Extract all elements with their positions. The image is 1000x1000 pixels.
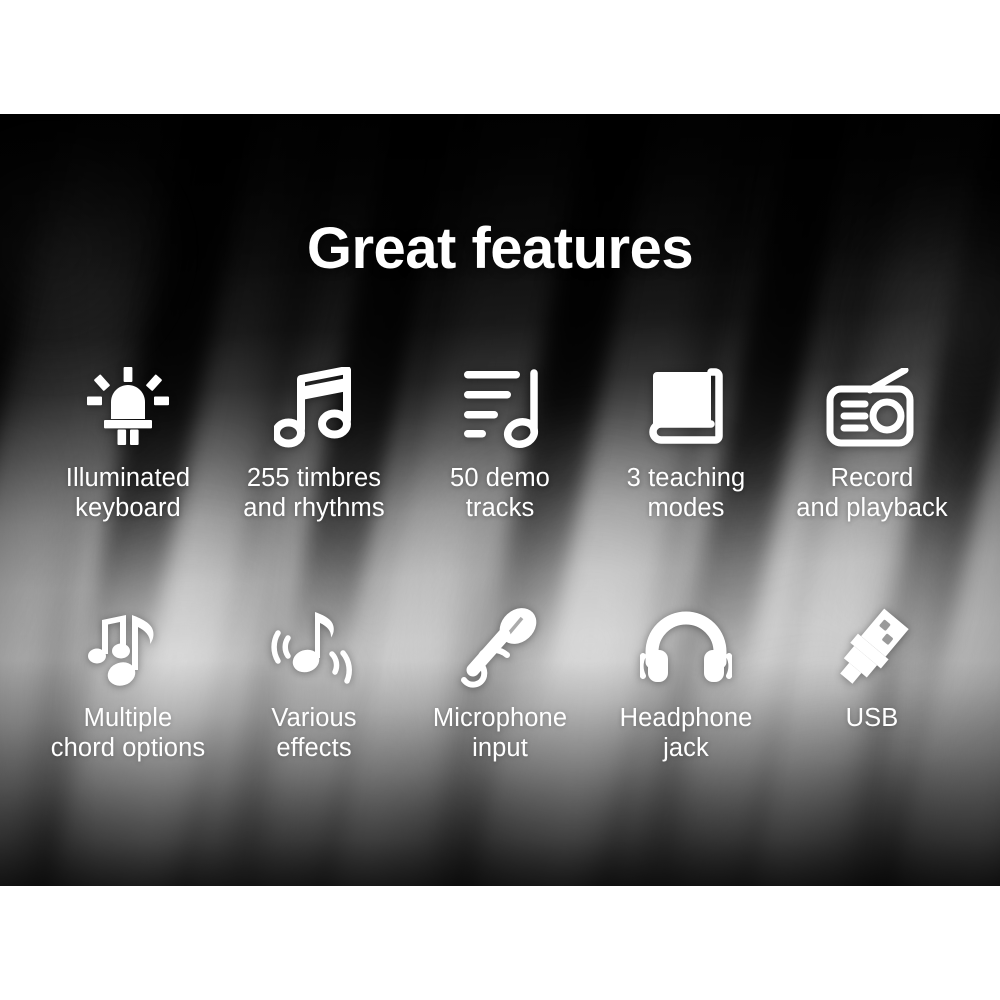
feature-chord-options: Multiple chord options [35, 606, 221, 764]
feature-label: 3 teaching modes [627, 464, 746, 524]
radio-icon [826, 366, 918, 450]
feature-label: Microphone input [433, 704, 567, 764]
feature-row-1: Illuminated keyboard 255 timbres and rhy… [0, 366, 1000, 524]
feature-label: Multiple chord options [51, 704, 205, 764]
illuminated-led-bulb-icon [87, 366, 169, 450]
feature-usb: USB [779, 606, 965, 734]
banner-content: Great features [0, 114, 1000, 886]
feature-various-effects: Various effects [221, 606, 407, 764]
microphone-icon [456, 606, 544, 690]
feature-label: 255 timbres and rhythms [243, 464, 384, 524]
feature-banner: Great features [0, 114, 1000, 886]
feature-label: Headphone jack [620, 704, 753, 764]
page-title: Great features [0, 220, 1000, 278]
beamed-eighth-notes-icon [274, 366, 354, 450]
feature-label: Illuminated keyboard [66, 464, 190, 524]
headphones-icon [640, 606, 732, 690]
feature-label: 50 demo tracks [450, 464, 550, 524]
feature-label: Various effects [271, 704, 356, 764]
closed-book-icon [645, 366, 727, 450]
feature-row-2: Multiple chord options [0, 606, 1000, 764]
feature-illuminated-keyboard: Illuminated keyboard [35, 366, 221, 524]
page-root: Great features [0, 0, 1000, 1000]
music-notes-group-icon [88, 606, 168, 690]
feature-timbres-rhythms: 255 timbres and rhythms [221, 366, 407, 524]
feature-record-playback: Record and playback [779, 366, 965, 524]
note-with-sound-waves-icon [271, 606, 357, 690]
feature-microphone-input: Microphone input [407, 606, 593, 764]
feature-demo-tracks: 50 demo tracks [407, 366, 593, 524]
feature-headphone-jack: Headphone jack [593, 606, 779, 764]
note-with-speed-lines-icon [458, 366, 542, 450]
feature-label: Record and playback [796, 464, 947, 524]
feature-label: USB [846, 704, 899, 734]
feature-teaching-modes: 3 teaching modes [593, 366, 779, 524]
usb-plug-icon [830, 606, 914, 690]
